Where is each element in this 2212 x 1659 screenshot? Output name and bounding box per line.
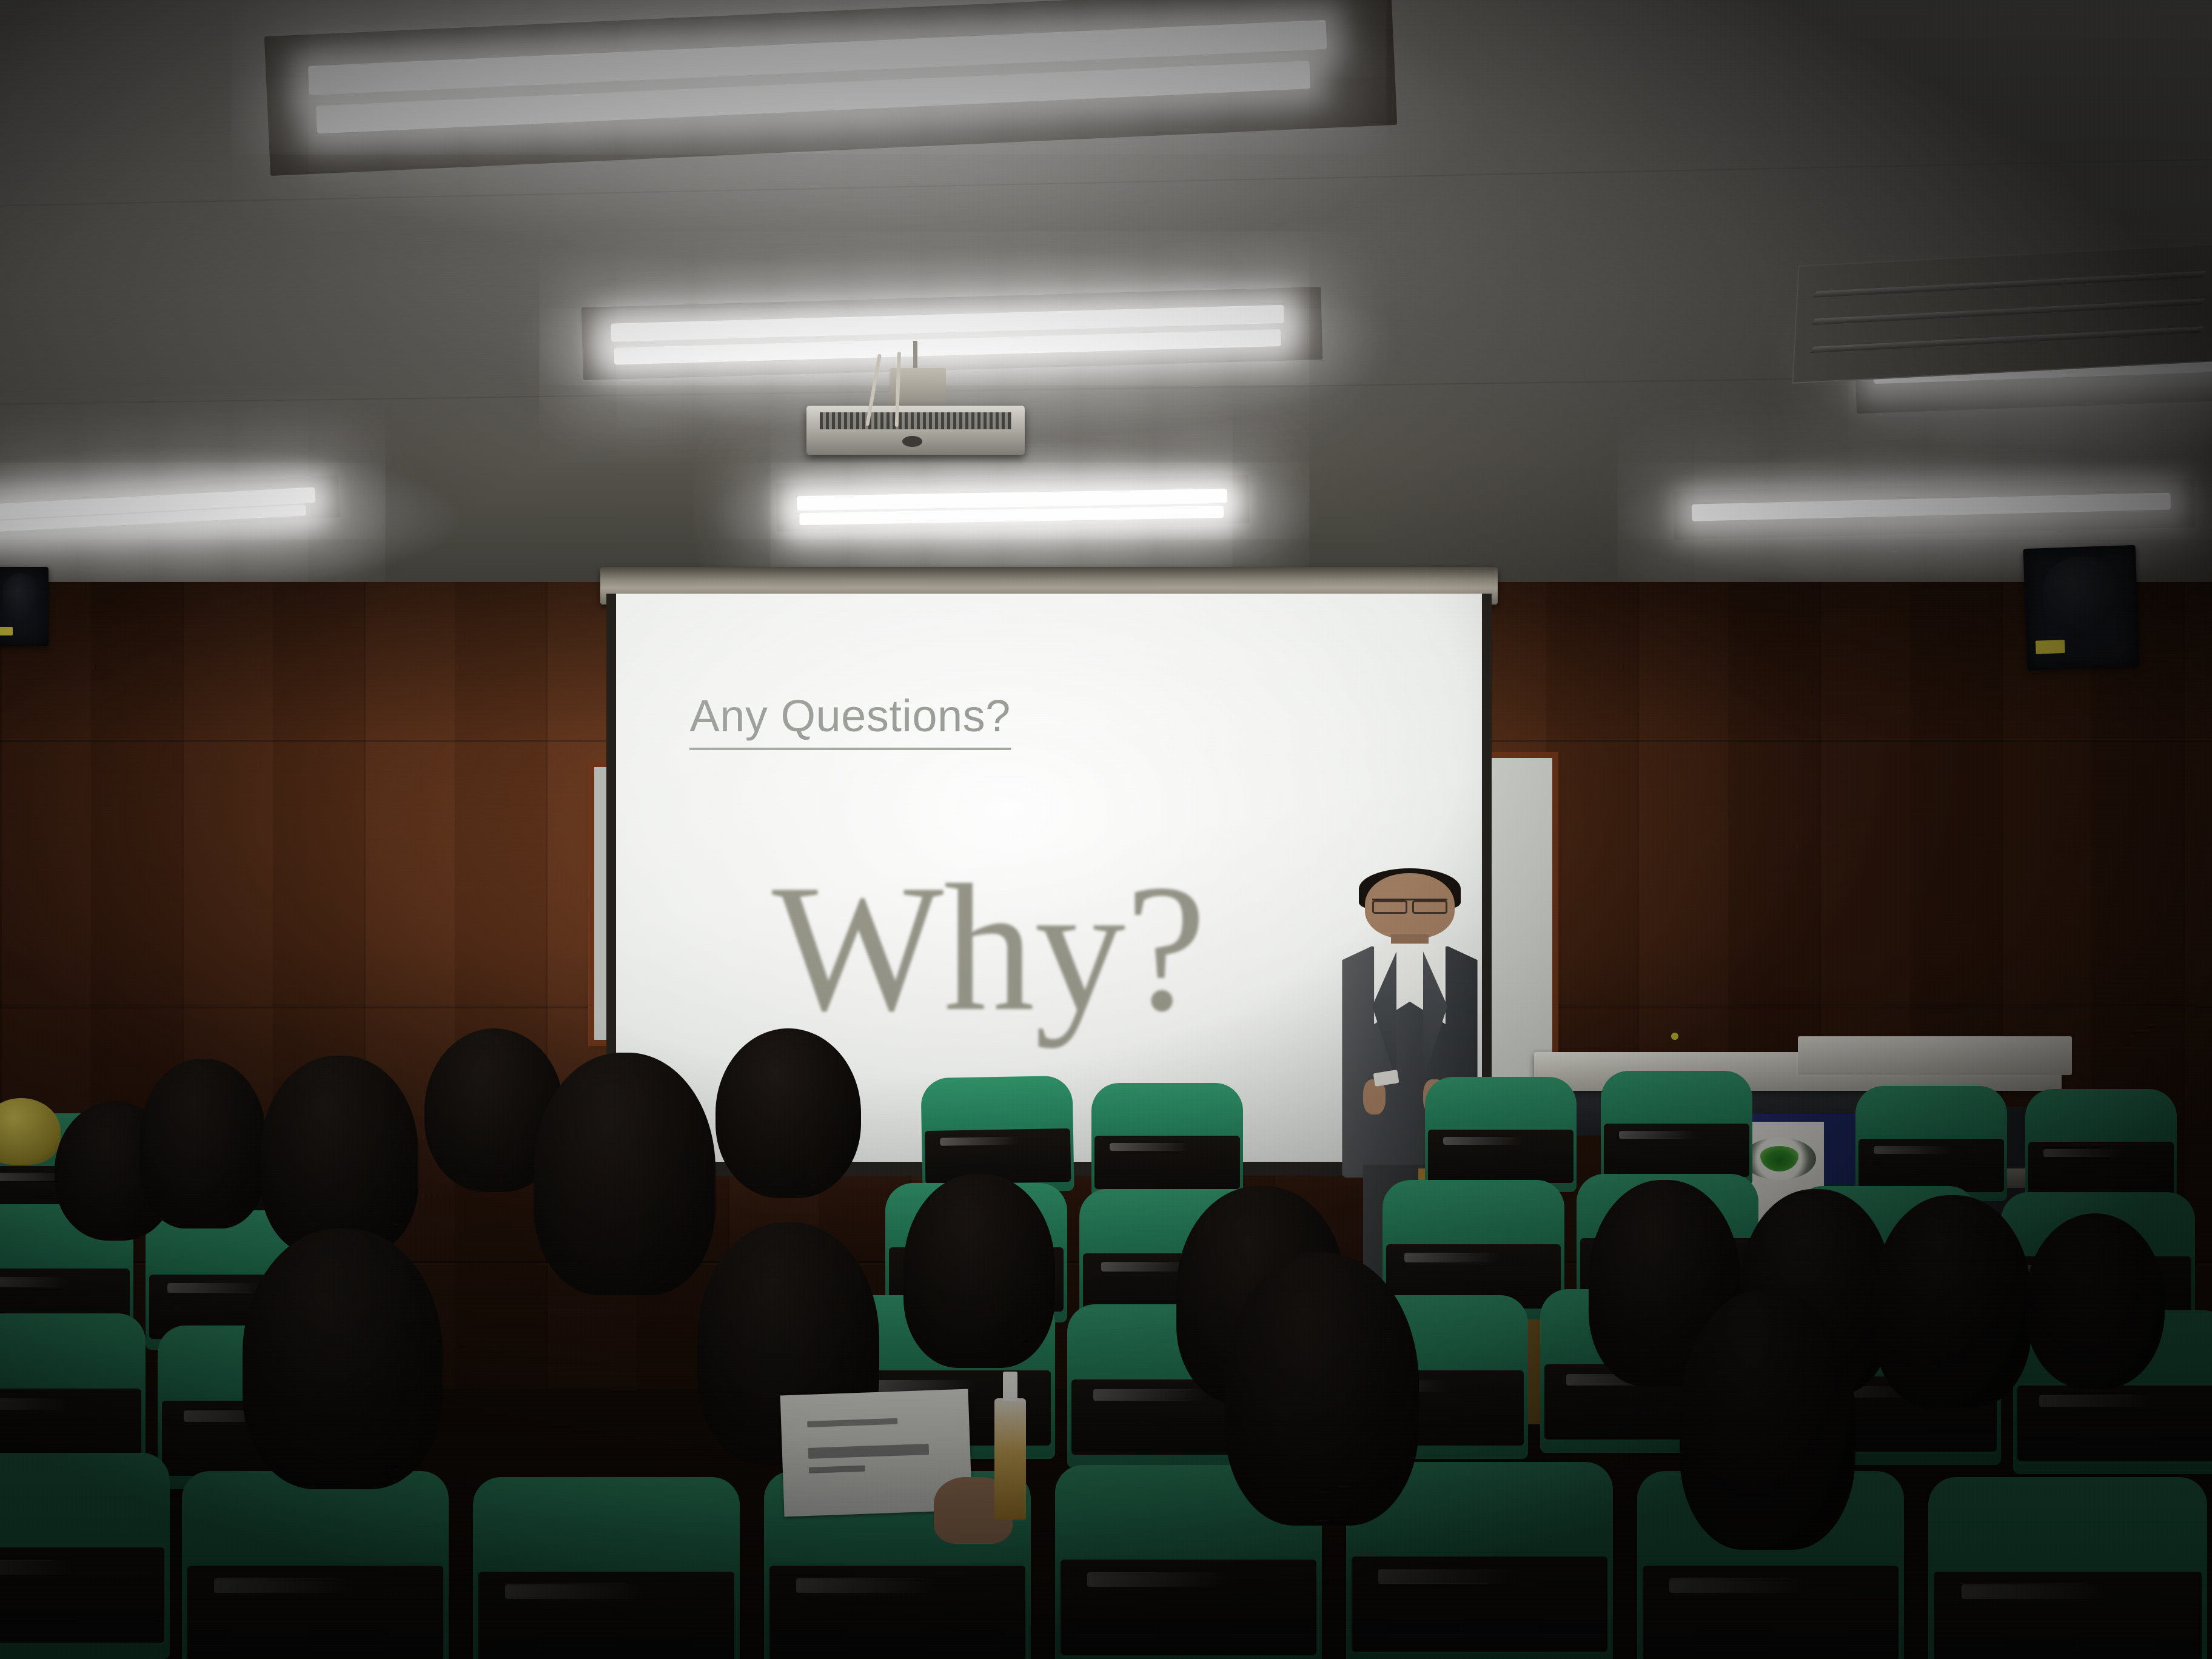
drink-bottle [994, 1398, 1026, 1520]
auditorium-seat [1601, 1071, 1752, 1186]
attendee-head [903, 1174, 1055, 1368]
auditorium-seat [0, 1453, 170, 1659]
attendee-head [261, 1056, 418, 1256]
attendee-head [2025, 1213, 2165, 1389]
lectern-worktop-extension [1798, 1036, 2072, 1075]
wall-speaker-right [2023, 545, 2140, 670]
ceiling-light-fixture [776, 475, 1249, 532]
attendee-head [139, 1059, 267, 1228]
attendee-head [1225, 1253, 1419, 1526]
auditorium-seat [182, 1471, 449, 1659]
wall-speaker-left [0, 567, 49, 646]
ceiling-projector [806, 370, 1025, 455]
glasses-icon [1372, 899, 1447, 910]
auditorium-seat [473, 1477, 740, 1659]
audience-seating [0, 1113, 2212, 1659]
slide-headline: Why? [772, 843, 1206, 1053]
auditorium-seat [2025, 1089, 2177, 1204]
auditorium-seat [1091, 1083, 1243, 1198]
attendee-head [243, 1228, 443, 1489]
auditorium-seat [1928, 1477, 2207, 1659]
lecture-hall-photo: Any Questions? Why? [0, 0, 2212, 1659]
auditorium-seat [1425, 1077, 1577, 1192]
attendee-head [716, 1028, 861, 1198]
slide-title: Any Questions? [689, 690, 1010, 750]
attendee-head [1680, 1289, 1855, 1550]
attendee-head [534, 1053, 716, 1295]
attendee-head [1874, 1195, 2031, 1407]
auditorium-seat [1855, 1086, 2007, 1201]
air-vent [1792, 243, 2212, 384]
